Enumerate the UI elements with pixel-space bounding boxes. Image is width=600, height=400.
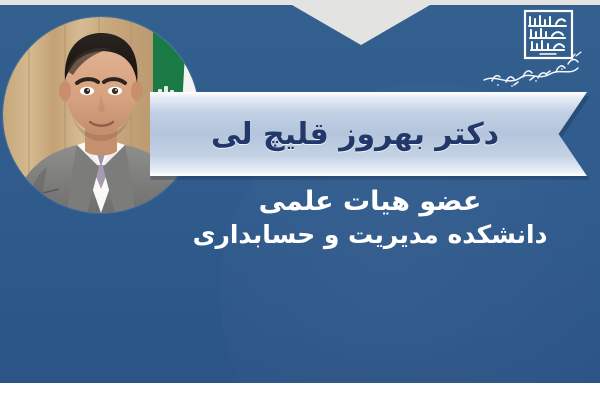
bottom-edge-strip [0, 383, 600, 400]
profile-banner-card: دکتر بهروز قلیچ لی عضو هیات علمی دانشکده… [0, 0, 600, 400]
university-logo [478, 8, 588, 96]
subtitle-block: عضو هیات علمی دانشکده مدیریت و حسابداری [170, 185, 570, 251]
person-name: دکتر بهروز قلیچ لی [150, 92, 560, 176]
person-role: عضو هیات علمی [170, 185, 570, 219]
name-banner: دکتر بهروز قلیچ لی [150, 92, 590, 180]
person-faculty: دانشکده مدیریت و حسابداری [170, 219, 570, 252]
